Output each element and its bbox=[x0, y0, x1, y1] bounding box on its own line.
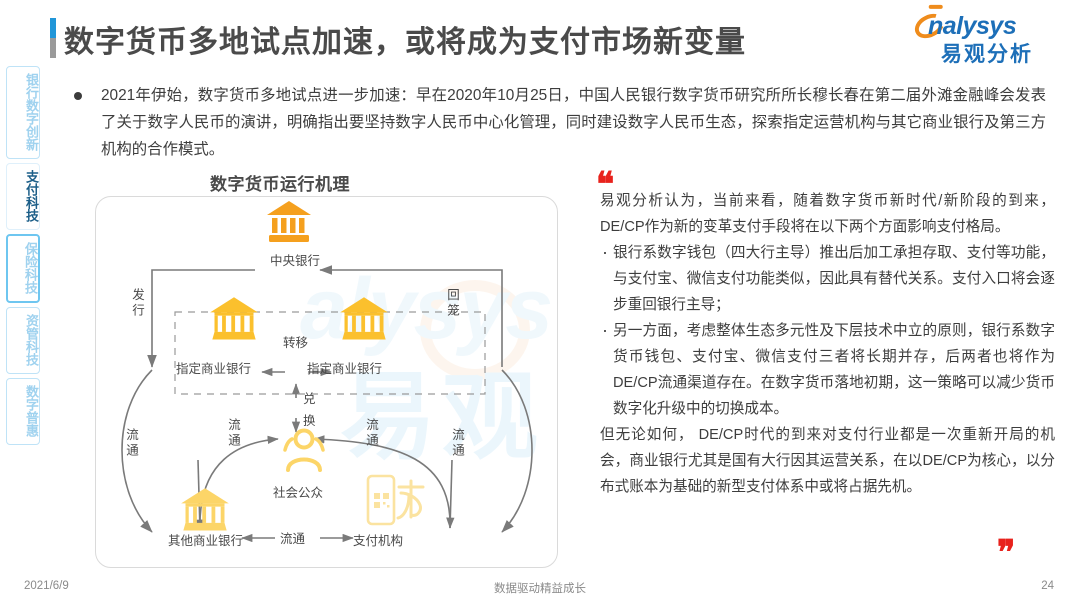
payment-org-icon bbox=[365, 473, 427, 529]
analysys-logo: nalysys 易观分析 bbox=[914, 12, 1054, 64]
edge-label-exchange-2: 换 bbox=[303, 410, 316, 429]
title-accent-bar bbox=[50, 18, 56, 58]
designated-bank-left-icon bbox=[208, 294, 260, 346]
sidebar-item-bank-digital-innovation[interactable]: 银行数字创新 bbox=[6, 66, 40, 159]
designated-bank-right-icon bbox=[338, 294, 390, 346]
analysis-bullet-2: 另一方面，考虑整体生态多元性及下层技术中立的原则，银行系数字货币钱包、支付宝、微… bbox=[600, 318, 1055, 422]
edge-label-circulate-mid-left: 流通 bbox=[224, 418, 243, 449]
central-bank-label: 中央银行 bbox=[270, 250, 320, 269]
bullet-dot-icon bbox=[74, 92, 82, 100]
designated-bank-left-label: 指定商业银行 bbox=[176, 358, 251, 377]
payment-org-label: 支付机构 bbox=[353, 530, 403, 549]
slide-footer: 2021/6/9 数据驱动精益成长 24 bbox=[0, 580, 1080, 598]
slide-root: alysys 易观 数字货币多地试点加速，或将成为支付市场新变量 nalysys… bbox=[0, 0, 1080, 608]
edge-label-transfer: 转移 bbox=[283, 332, 308, 351]
analysis-panel: 易观分析认为，当前来看，随着数字货币新时代/新阶段的到来，DE/CP作为新的变革… bbox=[600, 188, 1055, 500]
title-accent-gray bbox=[50, 38, 56, 58]
edge-label-circulate-right: 流通 bbox=[448, 428, 467, 459]
logo-chinese-name: 易观分析 bbox=[941, 38, 1033, 68]
edge-label-withdraw: 回笼 bbox=[443, 288, 462, 319]
public-label: 社会公众 bbox=[273, 482, 323, 501]
sidebar-item-label: 银行数字创新 bbox=[7, 73, 39, 151]
analysis-intro: 易观分析认为，当前来看，随着数字货币新时代/新阶段的到来，DE/CP作为新的变革… bbox=[600, 188, 1055, 240]
designated-bank-right-label: 指定商业银行 bbox=[307, 358, 382, 377]
edge-label-circulate-left: 流通 bbox=[122, 428, 141, 459]
edge-label-issue: 发行 bbox=[128, 288, 147, 319]
page-title: 数字货币多地试点加速，或将成为支付市场新变量 bbox=[64, 17, 746, 61]
quote-close-icon: ❞ bbox=[997, 536, 1015, 570]
other-bank-label: 其他商业银行 bbox=[168, 530, 243, 549]
edge-label-circulate-bottom: 流通 bbox=[280, 528, 305, 547]
analysis-bullet-1: 银行系数字钱包（四大行主导）推出后加工承担存取、支付等功能，与支付宝、微信支付功… bbox=[600, 240, 1055, 318]
edge-label-circulate-mid-right: 流通 bbox=[362, 418, 381, 449]
logo-wordmark: nalysys bbox=[928, 12, 1016, 41]
title-accent-blue bbox=[50, 18, 56, 38]
footer-page-number: 24 bbox=[1041, 580, 1054, 592]
public-person-icon bbox=[283, 428, 325, 472]
footer-tagline: 数据驱动精益成长 bbox=[0, 580, 1080, 596]
analysis-outro: 但无论如何， DE/CP时代的到来对支付行业都是一次重新开局的机会，商业银行尤其… bbox=[600, 422, 1055, 500]
body-paragraph: 2021年伊始，数字货币多地试点进一步加速：早在2020年10月25日，中国人民… bbox=[101, 82, 1046, 163]
edge-label-exchange-1: 兑 bbox=[303, 388, 316, 407]
central-bank-icon bbox=[265, 198, 313, 246]
